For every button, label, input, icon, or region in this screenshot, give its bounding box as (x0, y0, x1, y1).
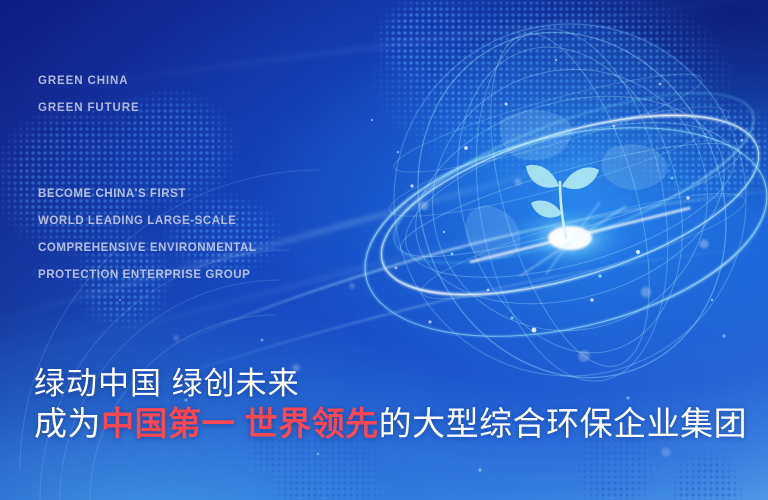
tagline-line-4: PROTECTION ENTERPRISE GROUP (38, 262, 256, 289)
tagline-text: BECOME CHINA'S FIRST WORLD LEADING LARGE… (38, 181, 256, 289)
tagline-line-2: WORLD LEADING LARGE-SCALE (38, 208, 256, 235)
tagline-line-1: BECOME CHINA'S FIRST (38, 181, 256, 208)
eyebrow-text: GREEN CHINA GREEN FUTURE (38, 68, 140, 122)
headline-line-2: 成为中国第一 世界领先的大型综合环保企业集团 (34, 403, 747, 445)
hero-banner: GREEN CHINA GREEN FUTURE BECOME CHINA'S … (0, 0, 768, 500)
eyebrow-line-1: GREEN CHINA (38, 68, 140, 95)
tagline-line-3: COMPREHENSIVE ENVIRONMENTAL (38, 235, 256, 262)
headline-suffix: 的大型综合环保企业集团 (379, 405, 748, 442)
headline-block: 绿动中国 绿创未来 成为中国第一 世界领先的大型综合环保企业集团 (34, 364, 747, 445)
headline-highlight: 中国第一 世界领先 (101, 405, 379, 442)
headline-line-1: 绿动中国 绿创未来 (34, 364, 747, 404)
eyebrow-line-2: GREEN FUTURE (38, 95, 140, 122)
headline-prefix: 成为 (34, 405, 101, 442)
